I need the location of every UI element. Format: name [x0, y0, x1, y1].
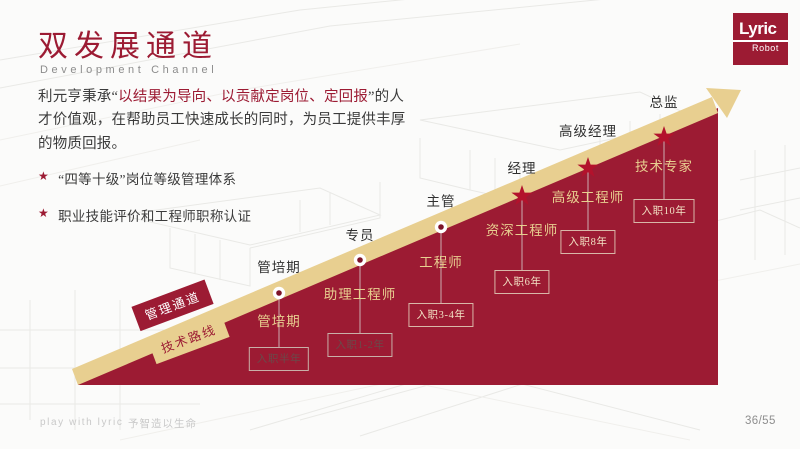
- gold-track-arrowhead: [706, 88, 741, 118]
- lead-paragraph: 利元亨秉承“以结果为导向、以贡献定岗位、定回报”的人才价值观，在帮助员工快速成长…: [38, 86, 408, 156]
- footer-tagline-cn: 予智造以生命: [128, 416, 197, 431]
- logo-brand-text: Lyric: [739, 20, 777, 37]
- page-number: 36/55: [745, 415, 776, 427]
- mgmt-label-0: 管培期: [257, 256, 301, 276]
- tenure-chip-0: 入职半年: [249, 347, 309, 371]
- brand-logo: Lyric Robot: [733, 13, 788, 65]
- page-subtitle: Development Channel: [40, 64, 217, 76]
- tech-label-1: 助理工程师: [324, 283, 397, 303]
- logo-divider-line: [733, 40, 788, 42]
- logo-sub-text: Robot: [752, 44, 779, 53]
- footer-tagline-en: play with lyric: [40, 417, 123, 428]
- mgmt-label-3: 经理: [508, 157, 537, 177]
- slide-canvas: Lyric Robot 双发展通道 Development Channel 利元…: [0, 0, 800, 449]
- tech-label-3: 资深工程师: [486, 219, 559, 239]
- ribbon-technical-track: 技术路线: [147, 313, 229, 365]
- mgmt-label-4: 高级经理: [559, 120, 617, 140]
- track-star-markers: [511, 126, 674, 205]
- mgmt-label-5: 总监: [650, 91, 679, 111]
- tenure-chip-4: 入职8年: [560, 230, 615, 254]
- star-icon: ★: [38, 168, 49, 184]
- list-item: ★ “四等十级”岗位等级管理体系: [38, 168, 368, 188]
- mgmt-label-2: 主管: [427, 190, 456, 210]
- tenure-chip-3: 入职6年: [494, 270, 549, 294]
- tenure-chip-2: 入职3-4年: [408, 303, 473, 327]
- bullet-list: ★ “四等十级”岗位等级管理体系 ★ 职业技能评价和工程师职称认证: [38, 168, 368, 242]
- tech-label-2: 工程师: [419, 251, 463, 271]
- bullet-label: 职业技能评价和工程师职称认证: [58, 205, 251, 225]
- ribbon-management-track: 管理通道: [131, 280, 213, 332]
- tech-label-5: 技术专家: [635, 155, 693, 175]
- lead-highlight: 以结果为导向、以贡献定岗位、定回报: [118, 89, 368, 105]
- bullet-label: “四等十级”岗位等级管理体系: [58, 168, 236, 188]
- tenure-chip-1: 入职1-2年: [327, 333, 392, 357]
- list-item: ★ 职业技能评价和工程师职称认证: [38, 205, 368, 225]
- tech-label-0: 管培期: [257, 310, 301, 330]
- tenure-chip-5: 入职10年: [634, 199, 695, 223]
- star-icon: ★: [38, 205, 49, 221]
- lead-part-1: 利元亨秉承“: [38, 89, 118, 105]
- page-title: 双发展通道: [38, 30, 218, 65]
- tech-label-4: 高级工程师: [552, 186, 625, 206]
